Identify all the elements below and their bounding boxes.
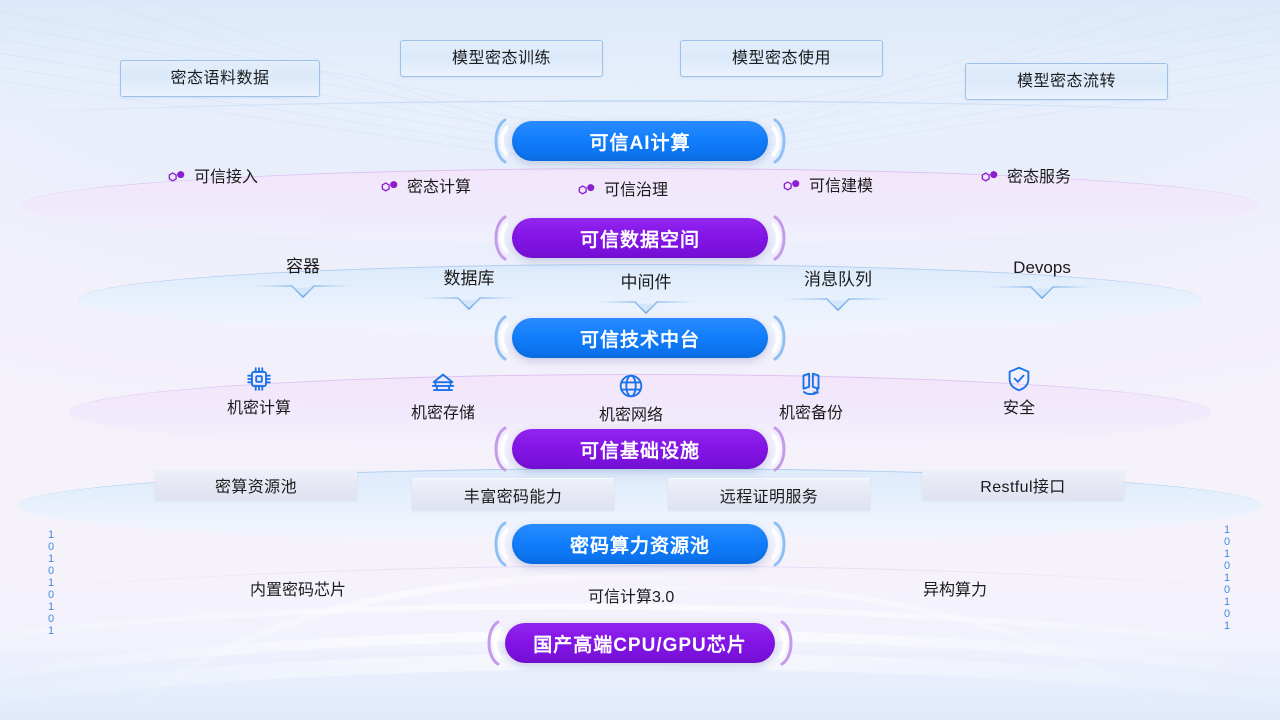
pill-bracket-left-icon bbox=[479, 620, 501, 666]
binary-digit: 1 bbox=[1224, 596, 1230, 608]
layer-pill[interactable]: 国产高端CPU/GPU芯片 bbox=[505, 623, 775, 663]
binary-digit: 1 bbox=[48, 529, 54, 541]
chip-icon bbox=[244, 364, 274, 394]
layer-pill-wrapper: 密码算力资源池 bbox=[0, 524, 1280, 564]
source-box-label: 模型密态训练 bbox=[452, 51, 551, 67]
chip-capability-label: 可信计算3.0 bbox=[588, 590, 674, 606]
binary-digit: 0 bbox=[48, 589, 54, 601]
source-box-label: 模型密态使用 bbox=[732, 51, 831, 67]
storage-icon bbox=[428, 369, 458, 399]
layer-pill-label: 可信AI计算 bbox=[589, 128, 690, 155]
pill-bracket-left-icon bbox=[486, 118, 508, 164]
architecture-diagram: 密态语料数据模型密态训练模型密态使用模型密态流转 可信AI计算 可信数据空间 可… bbox=[0, 0, 1280, 720]
infra-node[interactable]: 机密备份 bbox=[751, 369, 871, 422]
binary-digit: 0 bbox=[1224, 536, 1230, 548]
pill-bracket-left-icon bbox=[486, 215, 508, 261]
infra-node-label: 机密存储 bbox=[411, 406, 475, 422]
pill-bracket-right-icon bbox=[772, 521, 794, 567]
layer-pill-label: 可信数据空间 bbox=[580, 225, 700, 252]
binary-digit: 1 bbox=[48, 553, 54, 565]
capability-box-label: 丰富密码能力 bbox=[464, 483, 562, 507]
source-box-label: 模型密态流转 bbox=[1017, 74, 1116, 90]
layer-pill-wrapper: 国产高端CPU/GPU芯片 bbox=[0, 623, 1280, 663]
backup-icon bbox=[796, 369, 826, 399]
infra-node[interactable]: 机密网络 bbox=[571, 371, 691, 424]
pill-bracket-right-icon bbox=[772, 118, 794, 164]
infra-node-label: 机密计算 bbox=[227, 401, 291, 417]
binary-digit: 1 bbox=[1224, 548, 1230, 560]
binary-digit: 0 bbox=[48, 541, 54, 553]
capability-box-label: 密算资源池 bbox=[215, 473, 297, 497]
layer-pill-label: 可信基础设施 bbox=[580, 436, 700, 463]
binary-digit: 1 bbox=[1224, 524, 1230, 536]
platform-node-underline bbox=[782, 297, 894, 313]
capability-node-label: 可信治理 bbox=[604, 183, 668, 199]
binary-digit: 1 bbox=[48, 577, 54, 589]
capability-node[interactable]: 密态计算 bbox=[381, 180, 471, 196]
layer-pill-label: 国产高端CPU/GPU芯片 bbox=[533, 630, 747, 657]
pill-bracket-left-icon bbox=[486, 426, 508, 472]
pill-bracket-right-icon bbox=[779, 620, 801, 666]
source-box-label: 密态语料数据 bbox=[170, 71, 269, 87]
source-box[interactable]: 模型密态使用 bbox=[680, 40, 883, 77]
infra-node-label: 安全 bbox=[1003, 401, 1035, 417]
capability-node-label: 可信接入 bbox=[194, 170, 258, 186]
binary-digit: 0 bbox=[48, 613, 54, 625]
capability-box[interactable]: Restful接口 bbox=[922, 468, 1124, 500]
platform-node-label: 容器 bbox=[286, 258, 320, 275]
notched-underline-icon bbox=[986, 285, 1098, 301]
chip-capability-label: 内置密码芯片 bbox=[250, 583, 346, 599]
infra-node[interactable]: 机密存储 bbox=[383, 369, 503, 422]
capability-box-label: 远程证明服务 bbox=[720, 483, 818, 507]
binary-decoration-right: 101010101 bbox=[1224, 524, 1230, 632]
hex-dot-icon bbox=[981, 170, 999, 186]
infra-node-label: 机密备份 bbox=[779, 406, 843, 422]
capability-box[interactable]: 远程证明服务 bbox=[668, 478, 870, 510]
platform-node-label: 中间件 bbox=[621, 274, 672, 291]
capability-node-label: 密态计算 bbox=[407, 180, 471, 196]
layer-pill[interactable]: 可信基础设施 bbox=[512, 429, 768, 469]
layer-pill-wrapper: 可信AI计算 bbox=[0, 121, 1280, 161]
pill-bracket-left-icon bbox=[486, 521, 508, 567]
layer-pill-wrapper: 可信技术中台 bbox=[0, 318, 1280, 358]
notched-underline-icon bbox=[250, 284, 356, 300]
layer-pill-wrapper: 可信基础设施 bbox=[0, 429, 1280, 469]
layer-pill[interactable]: 密码算力资源池 bbox=[512, 524, 768, 564]
pill-bracket-left-icon bbox=[486, 315, 508, 361]
notched-underline-icon bbox=[782, 297, 894, 313]
binary-digit: 0 bbox=[48, 565, 54, 577]
layer-pill[interactable]: 可信技术中台 bbox=[512, 318, 768, 358]
binary-digit: 1 bbox=[1224, 572, 1230, 584]
capability-box[interactable]: 密算资源池 bbox=[155, 468, 357, 500]
platform-node-label: Devops bbox=[1013, 259, 1071, 276]
platform-node-underline bbox=[416, 296, 522, 312]
binary-digit: 1 bbox=[1224, 620, 1230, 632]
platform-node-underline bbox=[250, 284, 356, 300]
shield-icon bbox=[1004, 364, 1034, 394]
capability-node[interactable]: 可信治理 bbox=[578, 183, 668, 199]
capability-node[interactable]: 可信建模 bbox=[783, 179, 873, 195]
platform-node-label: 数据库 bbox=[444, 270, 495, 287]
capability-node-label: 可信建模 bbox=[809, 179, 873, 195]
binary-digit: 1 bbox=[48, 601, 54, 613]
capability-box-label: Restful接口 bbox=[980, 473, 1065, 497]
platform-node[interactable]: 容器 bbox=[250, 258, 356, 300]
pill-bracket-right-icon bbox=[772, 315, 794, 361]
binary-decoration-left: 101010101 bbox=[48, 529, 54, 637]
platform-node[interactable]: Devops bbox=[986, 259, 1098, 301]
platform-node-underline bbox=[593, 300, 699, 316]
binary-digit: 1 bbox=[48, 625, 54, 637]
infra-node[interactable]: 安全 bbox=[959, 364, 1079, 417]
infra-node-label: 机密网络 bbox=[599, 408, 663, 424]
capability-node-label: 密态服务 bbox=[1007, 170, 1071, 186]
layer-pill-label: 可信技术中台 bbox=[580, 325, 700, 352]
globe-icon bbox=[616, 371, 646, 401]
capability-box[interactable]: 丰富密码能力 bbox=[412, 478, 614, 510]
hex-dot-icon bbox=[168, 170, 186, 186]
platform-node-underline bbox=[986, 285, 1098, 301]
capability-node[interactable]: 密态服务 bbox=[981, 170, 1071, 186]
hex-dot-icon bbox=[783, 179, 801, 195]
source-box[interactable]: 模型密态流转 bbox=[965, 63, 1168, 100]
capability-node[interactable]: 可信接入 bbox=[168, 170, 258, 186]
infra-node[interactable]: 机密计算 bbox=[199, 364, 319, 417]
platform-node[interactable]: 数据库 bbox=[416, 270, 522, 312]
pill-bracket-right-icon bbox=[772, 215, 794, 261]
source-box[interactable]: 密态语料数据 bbox=[120, 60, 320, 97]
binary-digit: 0 bbox=[1224, 608, 1230, 620]
source-box[interactable]: 模型密态训练 bbox=[400, 40, 603, 77]
layer-pill-wrapper: 可信数据空间 bbox=[0, 218, 1280, 258]
platform-node[interactable]: 中间件 bbox=[593, 274, 699, 316]
notched-underline-icon bbox=[593, 300, 699, 316]
hex-dot-icon bbox=[381, 180, 399, 196]
hex-dot-icon bbox=[578, 183, 596, 199]
layer-pill[interactable]: 可信数据空间 bbox=[512, 218, 768, 258]
chip-capability-label: 异构算力 bbox=[923, 583, 987, 599]
notched-underline-icon bbox=[416, 296, 522, 312]
binary-digit: 0 bbox=[1224, 560, 1230, 572]
binary-digit: 0 bbox=[1224, 584, 1230, 596]
platform-node-label: 消息队列 bbox=[804, 271, 872, 288]
platform-node[interactable]: 消息队列 bbox=[782, 271, 894, 313]
layer-pill-label: 密码算力资源池 bbox=[570, 531, 710, 558]
layer-pill[interactable]: 可信AI计算 bbox=[512, 121, 768, 161]
pill-bracket-right-icon bbox=[772, 426, 794, 472]
